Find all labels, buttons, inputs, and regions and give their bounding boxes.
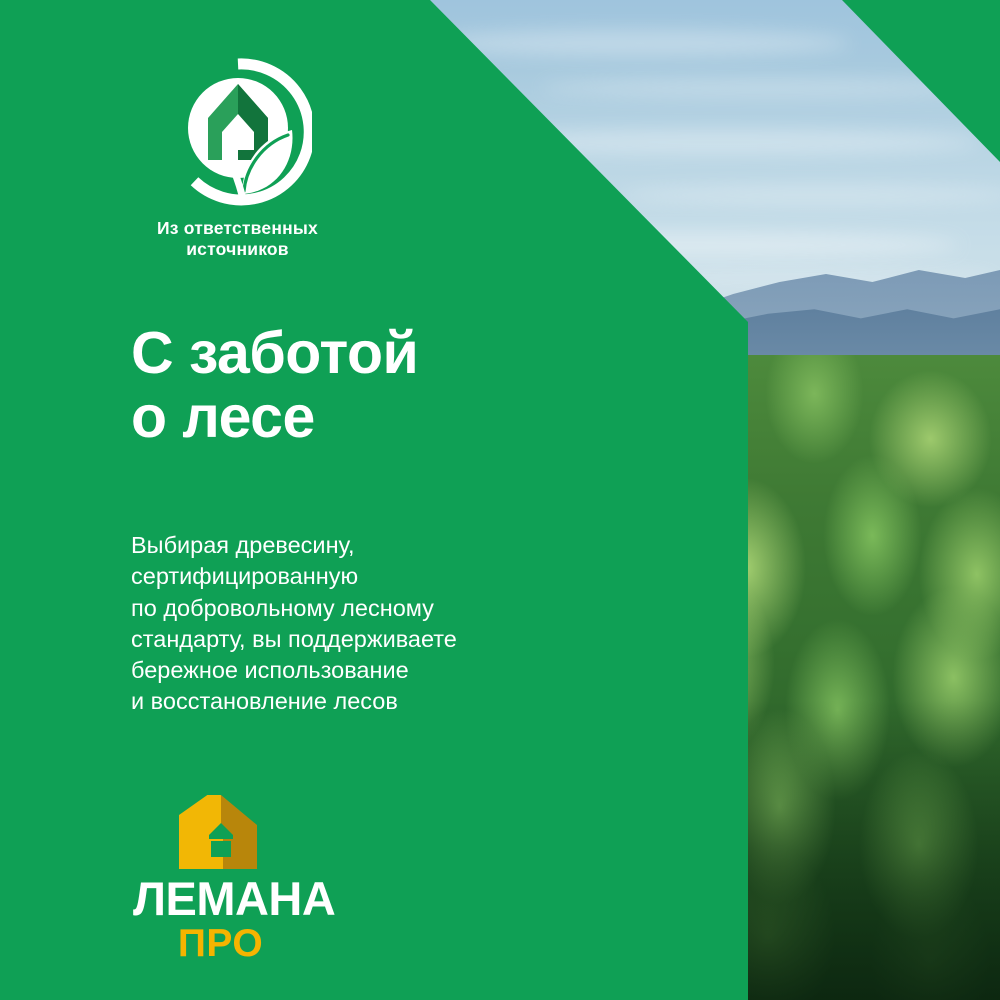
brand-name: ЛЕМАНА <box>133 875 308 922</box>
page-title: С заботой о лесе <box>131 322 418 449</box>
poster-content: Из ответственных источников С заботой о … <box>0 0 1000 1000</box>
house-roof-icon <box>179 795 263 869</box>
lemana-pro-logo: ЛЕМАНА ПРО <box>133 795 308 963</box>
poster-canvas: Из ответственных источников С заботой о … <box>0 0 1000 1000</box>
brand-suffix: ПРО <box>133 924 308 963</box>
certification-caption: Из ответственных источников <box>130 218 345 259</box>
certification-mark: Из ответственных источников <box>130 58 345 259</box>
body-paragraph: Выбирая древесину, сертифицированную по … <box>131 530 561 718</box>
responsible-sources-emblem-icon <box>164 58 312 206</box>
